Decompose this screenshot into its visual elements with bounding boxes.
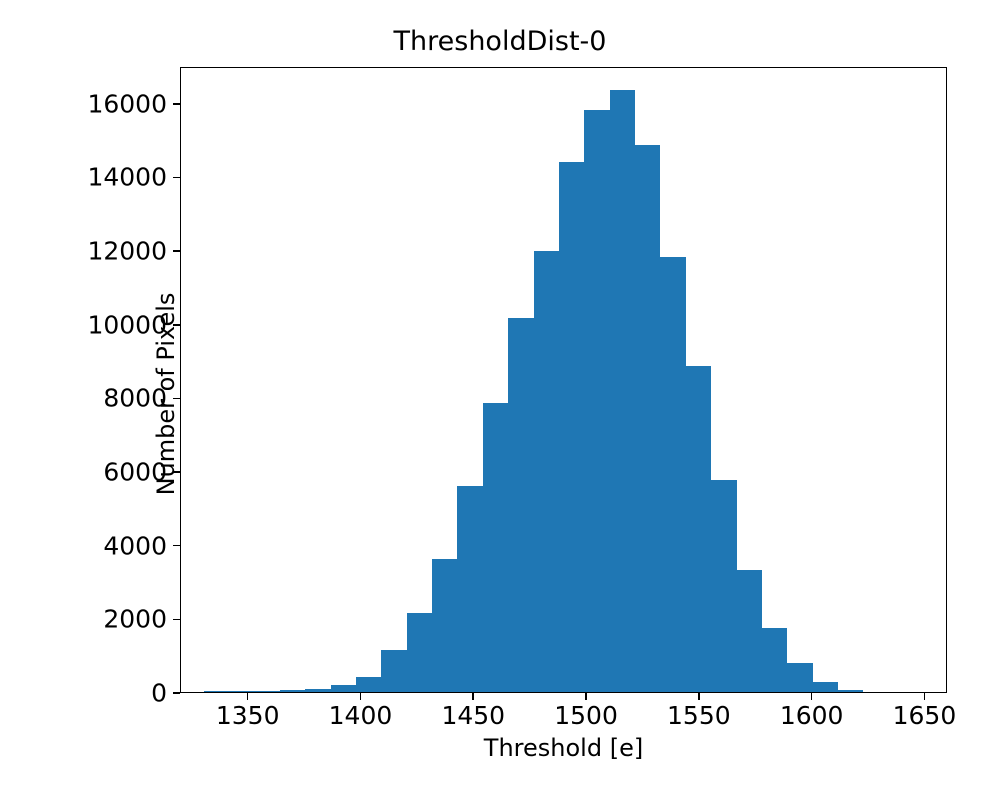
y-axis-label: Number of Pixels bbox=[152, 214, 180, 574]
x-tick-mark bbox=[247, 693, 249, 700]
x-tick-mark bbox=[585, 693, 587, 700]
chart-figure: ThresholdDist-0 020004000600080001000012… bbox=[0, 0, 1000, 800]
x-axis-ticks-and-labels: 1350140014501500155016001650 bbox=[0, 0, 1000, 800]
x-tick-mark bbox=[472, 693, 474, 700]
x-tick-mark bbox=[360, 693, 362, 700]
x-tick-mark bbox=[698, 693, 700, 700]
x-tick-mark bbox=[811, 693, 813, 700]
x-axis-label: Threshold [e] bbox=[180, 734, 947, 762]
x-tick-label: 1650 bbox=[844, 703, 1000, 728]
x-tick-mark bbox=[924, 693, 926, 700]
